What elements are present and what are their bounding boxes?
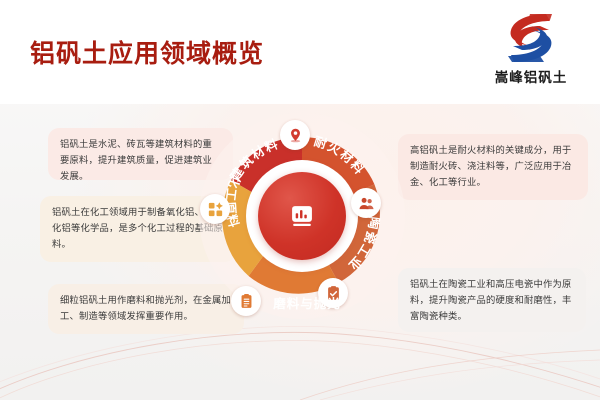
node-refractory[interactable] [351, 188, 381, 218]
blocks-grid-icon [207, 201, 224, 218]
people-icon [358, 195, 375, 212]
node-building[interactable] [280, 120, 310, 150]
info-card-ceramics: 铝矾土在陶瓷工业和高压电瓷中作为原料，提升陶瓷产品的硬度和耐磨性，丰富陶瓷种类。 [398, 268, 586, 332]
brand-name: 嵩峰铝矾土 [476, 66, 586, 86]
brand-logo: 嵩峰铝矾土 [476, 8, 586, 96]
document-list-icon [238, 293, 255, 310]
diagram-center-hub[interactable] [258, 172, 346, 260]
node-chemical[interactable] [200, 194, 230, 224]
radial-segment-diagram: 建筑材料 耐火材料 陶瓷工业 化工原料 [196, 110, 408, 322]
page-title: 铝矾土应用领域概览 [30, 34, 264, 70]
slide-canvas: 铝矾土应用领域概览 嵩峰铝矾土 铝矾土是水泥、砖瓦等建筑材料的重要原料，提升建筑… [0, 0, 600, 400]
node-abrasive[interactable] [231, 286, 261, 316]
segment-label-abrasive: 磨料与抛光 [270, 297, 344, 312]
location-pin-icon [287, 127, 304, 144]
company-s-logo-icon [500, 10, 562, 66]
bar-chart-icon [288, 202, 316, 230]
info-card-refractory: 高铝矾土是耐火材料的关键成分，用于制造耐火砖、浇注料等，广泛应用于冶金、化工等行… [398, 134, 588, 200]
